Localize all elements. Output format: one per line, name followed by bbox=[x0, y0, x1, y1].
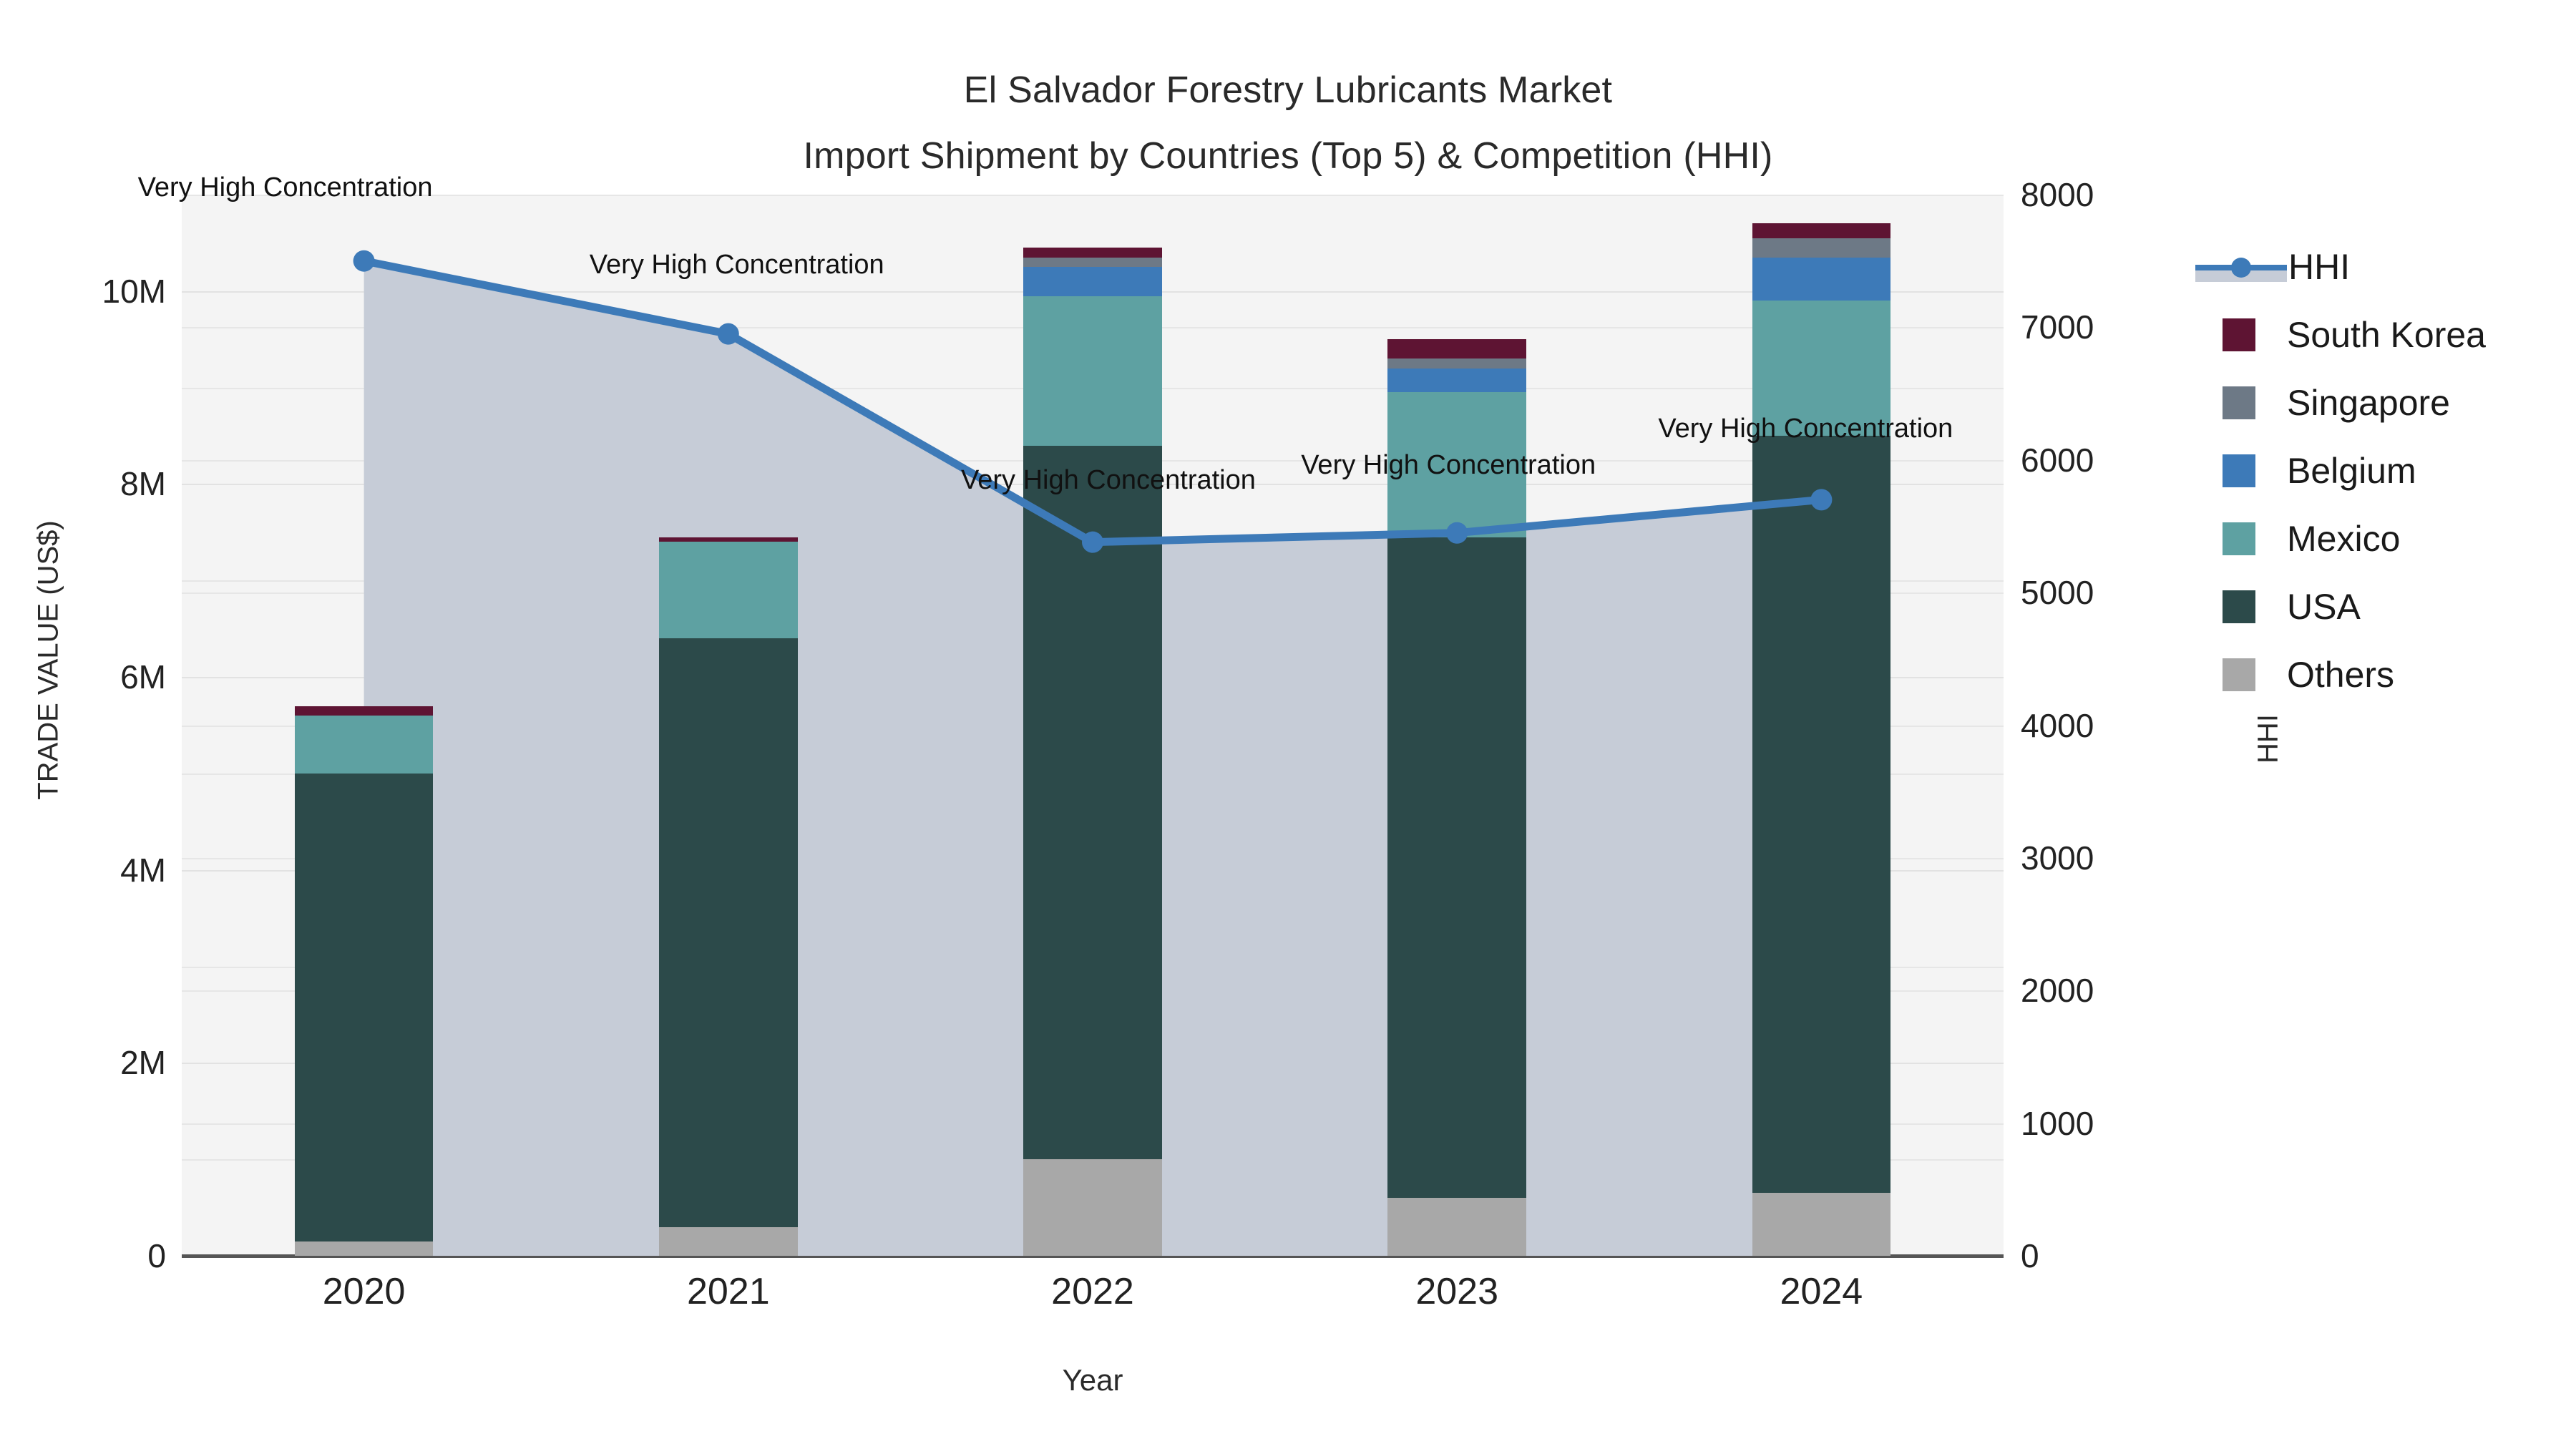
hhi-data-point[interactable] bbox=[1446, 522, 1468, 544]
legend-swatch-icon bbox=[2223, 454, 2255, 487]
legend-line-marker bbox=[2231, 258, 2251, 278]
annotation-2021: Very High Concentration bbox=[590, 250, 884, 280]
legend-item-label: Others bbox=[2287, 654, 2394, 696]
hhi-line-path bbox=[364, 261, 1822, 542]
legend-swatch-icon bbox=[2223, 522, 2255, 555]
legend: HHISouth KoreaSingaporeBelgiumMexicoUSAO… bbox=[2195, 233, 2567, 708]
hhi-data-point[interactable] bbox=[353, 250, 375, 272]
legend-item-mexico[interactable]: Mexico bbox=[2195, 504, 2567, 572]
chart-canvas: El Salvador Forestry Lubricants Market I… bbox=[0, 0, 2576, 1449]
legend-swatch-icon bbox=[2223, 658, 2255, 691]
annotation-2020: Very High Concentration bbox=[138, 172, 433, 203]
hhi-data-point[interactable] bbox=[718, 323, 739, 345]
legend-item-belgium[interactable]: Belgium bbox=[2195, 436, 2567, 504]
legend-item-singapore[interactable]: Singapore bbox=[2195, 369, 2567, 436]
legend-item-label: Belgium bbox=[2287, 450, 2416, 492]
legend-item-label: South Korea bbox=[2287, 314, 2486, 356]
annotation-2023: Very High Concentration bbox=[1301, 450, 1596, 481]
legend-item-south-korea[interactable]: South Korea bbox=[2195, 301, 2567, 369]
annotation-2022: Very High Concentration bbox=[961, 465, 1256, 496]
legend-line-key-icon bbox=[2195, 250, 2287, 283]
legend-item-label: Mexico bbox=[2287, 518, 2400, 560]
legend-swatch-icon bbox=[2223, 386, 2255, 419]
annotation-2024: Very High Concentration bbox=[1658, 414, 1953, 444]
legend-item-usa[interactable]: USA bbox=[2195, 572, 2567, 640]
legend-item-hhi[interactable]: HHI bbox=[2195, 233, 2567, 301]
hhi-line-overlay bbox=[0, 0, 2576, 1449]
hhi-data-point[interactable] bbox=[1082, 532, 1103, 553]
hhi-data-point[interactable] bbox=[1810, 489, 1832, 510]
legend-item-label: Singapore bbox=[2287, 382, 2450, 424]
legend-swatch-icon bbox=[2223, 590, 2255, 623]
legend-item-label: USA bbox=[2287, 586, 2361, 628]
legend-swatch-icon bbox=[2223, 318, 2255, 351]
legend-item-others[interactable]: Others bbox=[2195, 640, 2567, 708]
legend-item-label: HHI bbox=[2288, 246, 2350, 288]
